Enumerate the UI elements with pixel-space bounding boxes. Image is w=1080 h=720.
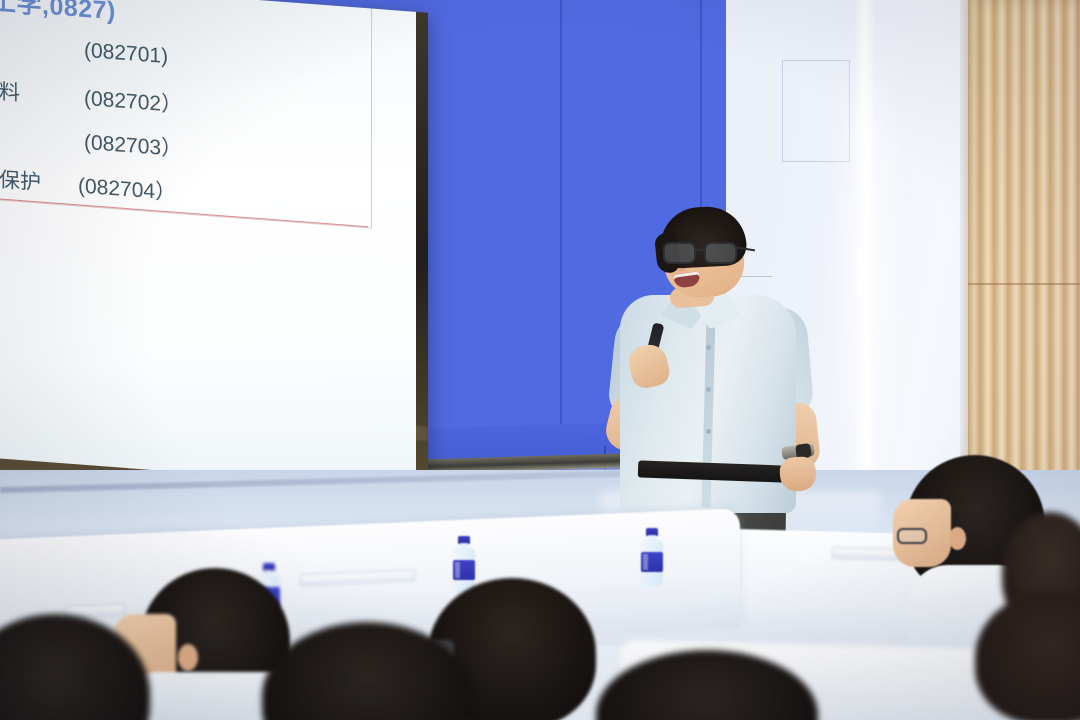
presentation-slide: 术（工学,0827) 与工程 (082701) 环与材料 (082702） 应用… bbox=[0, 0, 416, 490]
blue-wall-seam-1 bbox=[560, 0, 562, 470]
glasses-temple bbox=[737, 247, 755, 252]
audience-head-back-right bbox=[975, 592, 1080, 720]
glasses-bridge bbox=[696, 249, 706, 251]
audience-head-front-center-right bbox=[596, 650, 818, 720]
bottle-label-highlight bbox=[455, 562, 460, 578]
glasses-icon bbox=[897, 528, 927, 544]
audience-head-front-center bbox=[262, 622, 472, 720]
hair bbox=[0, 614, 150, 720]
projection-screen: 术（工学,0827) 与工程 (082701) 环与材料 (082702） 应用… bbox=[0, 0, 416, 490]
speaker-right-hand bbox=[779, 456, 817, 492]
hair bbox=[262, 622, 472, 720]
speaker-shirt-button bbox=[706, 429, 711, 434]
hair bbox=[975, 592, 1080, 720]
slide-row-code: (082701) bbox=[84, 39, 168, 69]
audience-head-front-left bbox=[0, 614, 150, 720]
glasses-lens-left bbox=[663, 242, 696, 264]
wood-slat-panel-secondary bbox=[1030, 0, 1080, 520]
speaker-figure bbox=[600, 195, 860, 535]
speaker-shirt-button bbox=[706, 387, 711, 392]
speaker-shirt-button bbox=[706, 345, 711, 350]
ear bbox=[949, 527, 966, 550]
glasses-icon bbox=[660, 242, 748, 264]
ear bbox=[178, 644, 198, 671]
bottle-label-highlight bbox=[643, 554, 648, 570]
water-bottle bbox=[641, 528, 663, 586]
slide-row-label: 环与材料 bbox=[0, 71, 20, 107]
photo-scene: 术（工学,0827) 与工程 (082701) 环与材料 (082702） 应用… bbox=[0, 0, 1080, 720]
hair bbox=[596, 650, 818, 720]
wood-panel-seam bbox=[968, 283, 1080, 285]
glasses-lens-right bbox=[704, 242, 737, 264]
